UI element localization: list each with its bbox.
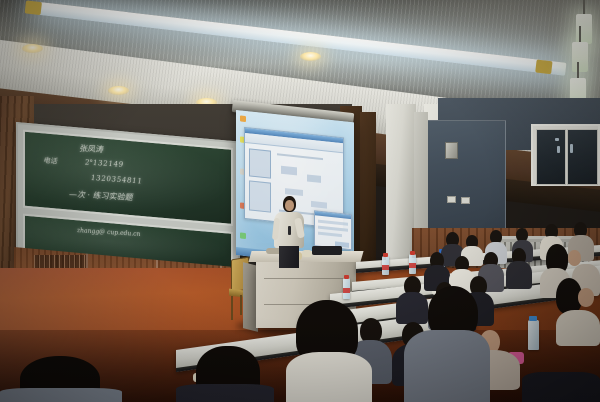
wall-outlet	[461, 197, 470, 204]
window-glint	[557, 146, 560, 153]
canvas-node	[285, 188, 303, 196]
student-body	[556, 310, 600, 346]
foreground-student-shirt	[404, 330, 490, 402]
canvas-line	[277, 153, 323, 160]
dialog-row	[318, 226, 348, 232]
presenter-speaker	[272, 196, 306, 268]
bottle-label	[382, 265, 389, 270]
desktop-icon-1	[240, 115, 246, 122]
exterior-window-night	[531, 124, 600, 186]
downlight-4	[300, 52, 321, 61]
pendant-rod	[579, 26, 581, 42]
dialog-row	[318, 220, 348, 226]
lectern-seam	[264, 278, 348, 279]
chalk-line-2: 电话	[43, 155, 57, 166]
window-glint	[570, 144, 573, 153]
chair-leg	[231, 296, 233, 320]
canvas-node	[311, 201, 327, 209]
microphone	[288, 226, 291, 235]
podium-item-laptop	[312, 246, 342, 255]
electrical-junction-box	[445, 142, 458, 159]
window-pane-right	[567, 129, 598, 185]
water-bottle	[343, 278, 350, 299]
student-face	[568, 250, 581, 266]
water-bottle	[409, 254, 416, 274]
foreground-student-shirt	[0, 388, 122, 402]
presenter-face	[285, 200, 294, 211]
window-pane-left	[536, 129, 566, 185]
wall-outlet	[447, 196, 456, 203]
bottle-cap	[383, 253, 388, 257]
pendant-light-2	[572, 42, 588, 72]
bottle-label	[343, 288, 350, 293]
window-glint	[555, 138, 559, 141]
desktop-icon-5	[240, 232, 246, 239]
wood-column-center-2	[360, 112, 376, 282]
student-body	[506, 261, 532, 289]
downlight-1	[22, 44, 43, 53]
water-bottle	[528, 320, 539, 350]
bottle-cap	[410, 251, 415, 255]
bottle-label	[409, 263, 416, 268]
student-face	[578, 288, 594, 307]
downlight-2	[108, 86, 129, 95]
chair-leg	[240, 295, 242, 315]
dialog-row	[318, 232, 342, 238]
pendant-rod	[583, 0, 585, 14]
bottle-cap	[344, 275, 349, 279]
presenter-pants	[279, 246, 299, 268]
pendant-rod	[577, 62, 579, 78]
foreground-student-silhouette	[522, 372, 600, 402]
tube-end-right	[535, 59, 552, 74]
foreground-student-shirt	[176, 384, 274, 402]
water-bottle	[382, 256, 389, 275]
blackboard-upper-panel: 张凤涛 电话 2°1 3 2 1 4 9 1 3 2 0 3 5 4 8 1 1…	[23, 130, 233, 226]
tube-end-left	[25, 0, 42, 15]
lecture-hall-photo: 张凤涛 电话 2°1 3 2 1 4 9 1 3 2 0 3 5 4 8 1 1…	[0, 0, 600, 402]
tree-panel	[249, 148, 271, 178]
dialog-window	[314, 210, 352, 250]
student-body	[396, 292, 428, 324]
foreground-student-shirt	[286, 352, 372, 402]
list-panel	[249, 180, 271, 212]
canvas-node	[281, 166, 297, 176]
canvas-node	[307, 174, 321, 182]
chalk-line-1: 张凤涛	[79, 143, 103, 155]
bottle-cap	[529, 316, 537, 321]
